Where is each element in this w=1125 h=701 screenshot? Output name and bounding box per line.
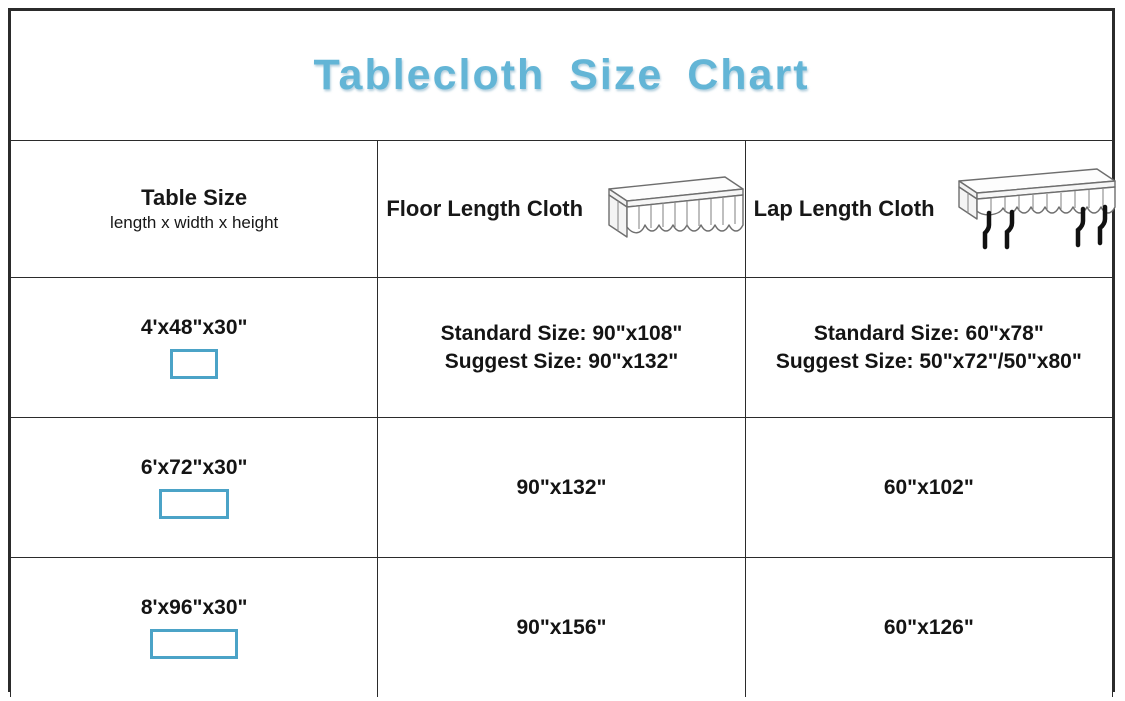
floor-length-measurement-cell: Standard Size: 90"x108" Suggest Size: 90…: [378, 278, 745, 418]
table-shape-icon: [170, 349, 218, 379]
lap-size: 60"x126": [746, 614, 1112, 642]
tablecloth-size-chart: Tablecloth Size Chart Table Size length …: [8, 8, 1115, 692]
header-lap-length-label: Lap Length Cloth: [754, 196, 935, 222]
size-cell-inner: 4'x48"x30": [11, 316, 377, 379]
header-lap-length-cell: Lap Length Cloth: [745, 141, 1112, 278]
table-row: 6'x72"x30" 90"x132" 60"x102": [11, 418, 1113, 558]
size-cell: 4'x48"x30": [11, 278, 378, 418]
floor-length-measurement-cell: 90"x132": [378, 418, 745, 558]
table-shape-icon: [150, 629, 238, 659]
table-size-label: 8'x96"x30": [141, 596, 248, 620]
lap-length-measurement-cell: 60"x126": [745, 558, 1112, 698]
table-shape-icon: [159, 489, 229, 519]
header-floor-length: Floor Length Cloth: [378, 167, 744, 251]
table-row: 8'x96"x30" 90"x156" 60"x126": [11, 558, 1113, 698]
lap-size: 60"x102": [746, 474, 1112, 502]
header-lap-length: Lap Length Cloth: [746, 163, 1112, 255]
lap-length-table-icon: [939, 163, 1121, 255]
floor-size: 90"x132": [378, 474, 744, 502]
lap-standard-size: Standard Size: 60"x78": [746, 320, 1112, 348]
header-floor-length-cell: Floor Length Cloth: [378, 141, 745, 278]
header-table-size-cell: Table Size length x width x height: [11, 141, 378, 278]
header-table-size-title: Table Size: [11, 184, 377, 212]
floor-standard-size: Standard Size: 90"x108": [378, 320, 744, 348]
header-table-size: Table Size length x width x height: [11, 184, 377, 234]
lap-length-measurement-cell: Standard Size: 60"x78" Suggest Size: 50"…: [745, 278, 1112, 418]
floor-suggest-size: Suggest Size: 90"x132": [378, 348, 744, 376]
floor-length-measurement-cell: 90"x156": [378, 558, 745, 698]
size-cell-inner: 8'x96"x30": [11, 596, 377, 659]
size-cell: 6'x72"x30": [11, 418, 378, 558]
table-row: 4'x48"x30" Standard Size: 90"x108" Sugge…: [11, 278, 1113, 418]
table-size-label: 6'x72"x30": [141, 456, 248, 480]
size-cell-inner: 6'x72"x30": [11, 456, 377, 519]
title-cell: Tablecloth Size Chart: [11, 11, 1113, 141]
header-floor-length-label: Floor Length Cloth: [386, 196, 583, 222]
size-chart-table: Tablecloth Size Chart Table Size length …: [10, 10, 1113, 697]
header-row: Table Size length x width x height Floor…: [11, 141, 1113, 278]
page-title: Tablecloth Size Chart: [313, 51, 809, 99]
title-row: Tablecloth Size Chart: [11, 11, 1113, 141]
table-size-label: 4'x48"x30": [141, 316, 248, 340]
lap-suggest-size: Suggest Size: 50"x72"/50"x80": [746, 348, 1112, 376]
floor-length-table-icon: [587, 167, 747, 251]
header-table-size-subtitle: length x width x height: [11, 212, 377, 234]
lap-length-measurement-cell: 60"x102": [745, 418, 1112, 558]
floor-size: 90"x156": [378, 614, 744, 642]
size-cell: 8'x96"x30": [11, 558, 378, 698]
